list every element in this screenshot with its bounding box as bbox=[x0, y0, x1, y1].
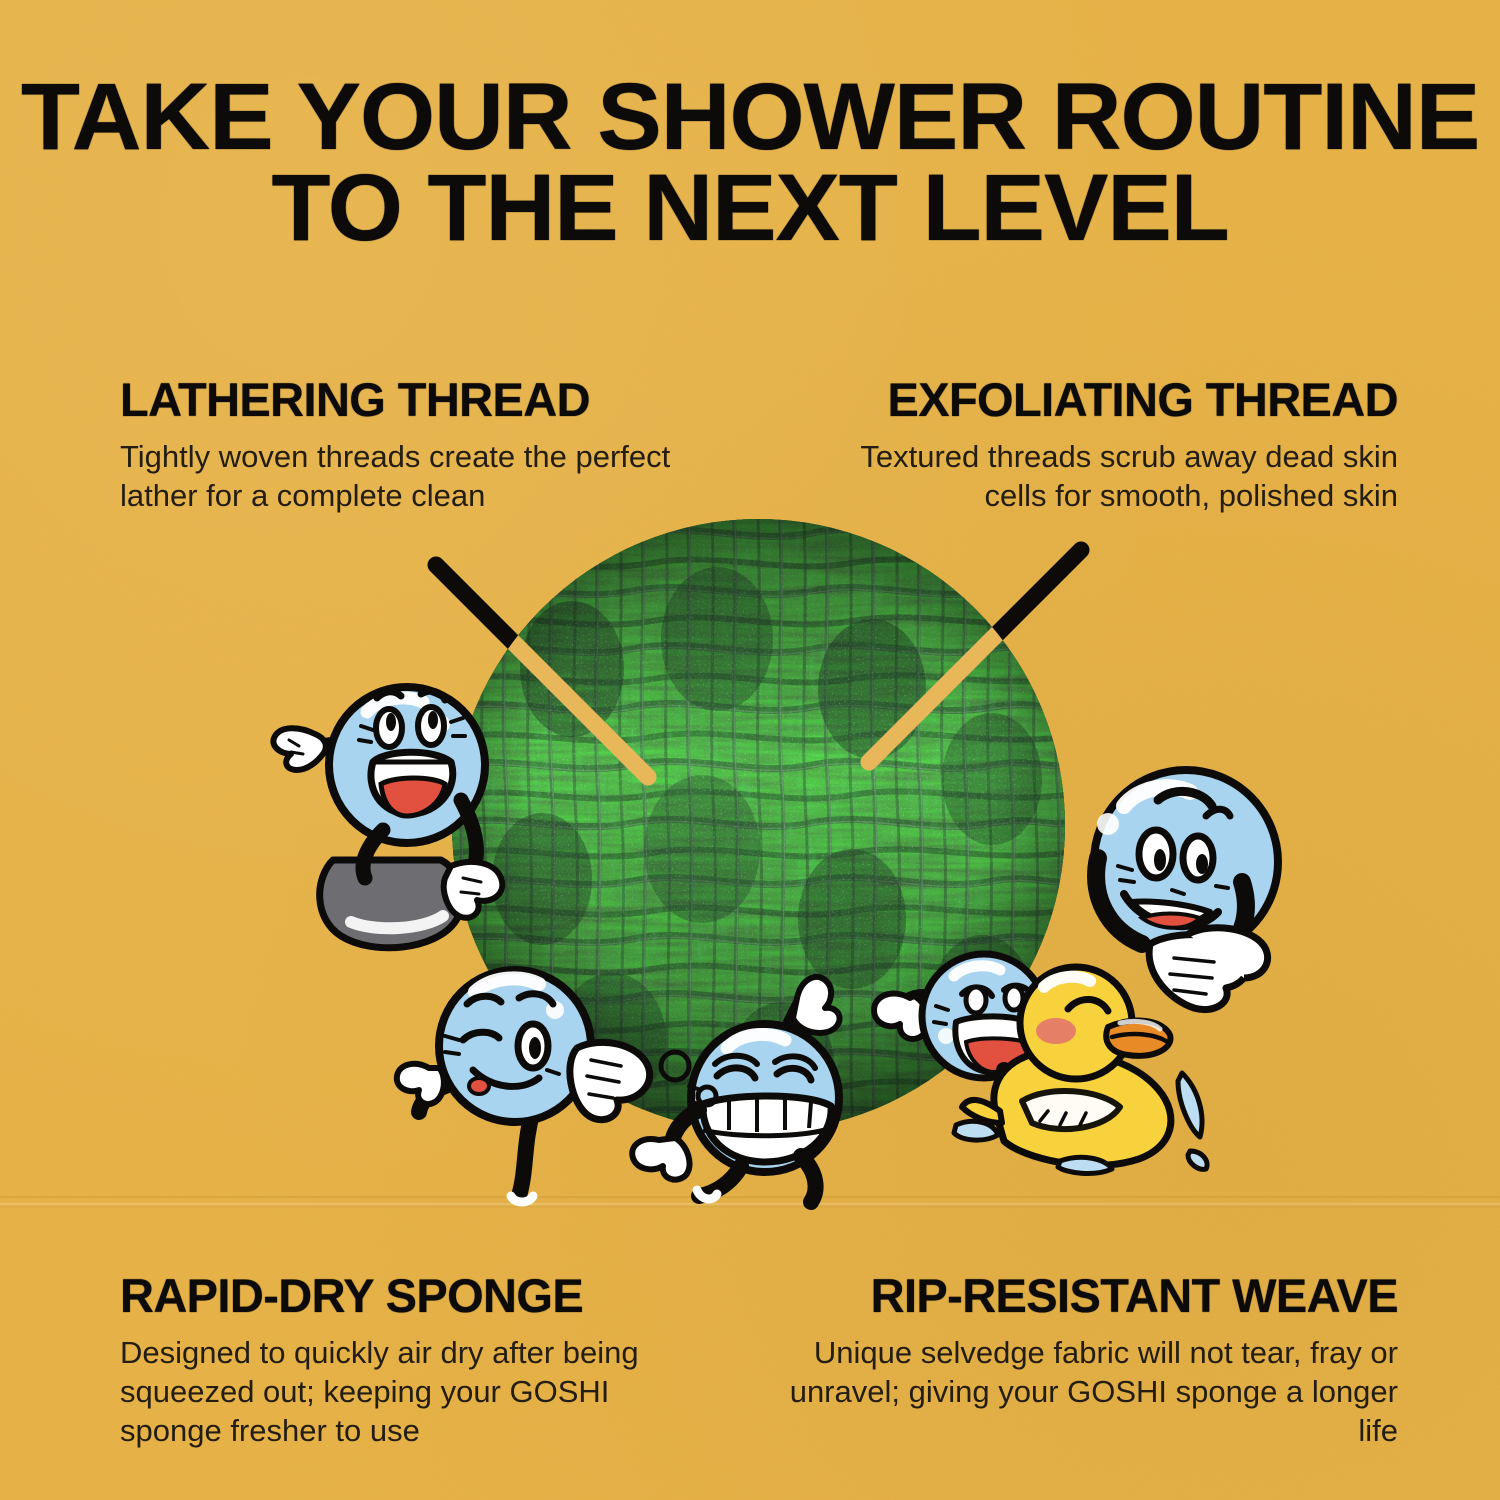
feature-exfoliating-thread: EXFOLIATING THREAD Textured threads scru… bbox=[798, 376, 1398, 515]
grey-sponge bbox=[320, 860, 463, 948]
bubble-head bbox=[439, 970, 591, 1122]
feature-lathering-thread: LATHERING THREAD Tightly woven threads c… bbox=[120, 376, 680, 515]
glove-right bbox=[570, 1042, 650, 1119]
glove-left bbox=[397, 1064, 444, 1104]
feature-rapid-dry-sponge: RAPID-DRY SPONGE Designed to quickly air… bbox=[120, 1272, 680, 1450]
feature-title-lathering: LATHERING THREAD bbox=[120, 376, 680, 423]
headline-line-1: TAKE YOUR SHOWER ROUTINE bbox=[0, 72, 1500, 163]
feature-title-rapid-dry: RAPID-DRY SPONGE bbox=[120, 1272, 680, 1319]
feature-body-exfoliating: Textured threads scrub away dead skin ce… bbox=[798, 437, 1398, 515]
mascot-rubber-duck bbox=[960, 965, 1230, 1195]
feature-body-lathering: Tightly woven threads create the perfect… bbox=[120, 437, 680, 515]
floating-bubbles bbox=[645, 1040, 735, 1130]
feature-title-rip-resistant: RIP-RESISTANT WEAVE bbox=[778, 1272, 1398, 1319]
headline: TAKE YOUR SHOWER ROUTINE TO THE NEXT LEV… bbox=[0, 72, 1500, 254]
feature-body-rip-resistant: Unique selvedge fabric will not tear, fr… bbox=[778, 1333, 1398, 1450]
mascot-bubble-waving-on-sponge bbox=[255, 650, 555, 960]
glove-pointing bbox=[793, 977, 840, 1033]
glove-left bbox=[273, 728, 325, 770]
poster-canvas: TAKE YOUR SHOWER ROUTINE TO THE NEXT LEV… bbox=[0, 0, 1500, 1500]
feature-title-exfoliating: EXFOLIATING THREAD bbox=[798, 376, 1398, 423]
feature-rip-resistant-weave: RIP-RESISTANT WEAVE Unique selvedge fabr… bbox=[778, 1272, 1398, 1450]
bubble-head bbox=[329, 687, 485, 843]
headline-line-2: TO THE NEXT LEVEL bbox=[0, 163, 1500, 254]
feature-body-rapid-dry: Designed to quickly air dry after being … bbox=[120, 1333, 680, 1450]
glove-right bbox=[444, 862, 503, 918]
